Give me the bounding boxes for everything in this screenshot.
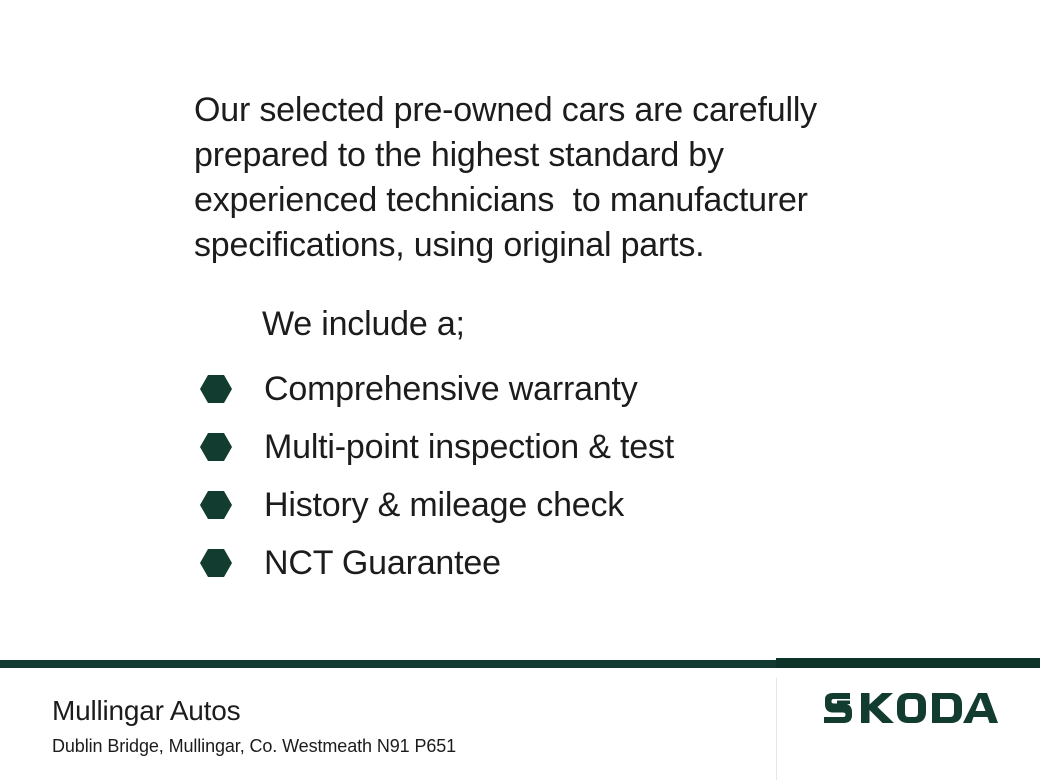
list-item: Comprehensive warranty xyxy=(196,360,956,418)
list-item: NCT Guarantee xyxy=(196,534,956,592)
hexagon-bullet-icon xyxy=(200,375,232,403)
headline-paragraph: Our selected pre-owned cars are carefull… xyxy=(194,88,894,268)
list-item-label: Multi-point inspection & test xyxy=(264,427,674,467)
hexagon-bullet-icon xyxy=(200,549,232,577)
dealer-name: Mullingar Autos xyxy=(52,694,240,728)
headline-line-1: Our selected pre-owned cars are carefull… xyxy=(194,88,894,133)
slide-canvas: Our selected pre-owned cars are carefull… xyxy=(0,0,1040,780)
inclusions-list: Comprehensive warranty Multi-point inspe… xyxy=(196,360,956,592)
list-item-label: Comprehensive warranty xyxy=(264,369,638,409)
headline-line-4: specifications, using original parts. xyxy=(194,223,894,268)
headline-line-2: prepared to the highest standard by xyxy=(194,133,894,178)
dealer-address: Dublin Bridge, Mullingar, Co. Westmeath … xyxy=(52,734,456,758)
footer-divider-bar-accent xyxy=(776,658,1040,668)
headline-line-3: experienced technicians to manufacturer xyxy=(194,178,894,223)
hexagon-bullet-icon xyxy=(200,491,232,519)
hexagon-bullet-icon xyxy=(200,433,232,461)
list-item: Multi-point inspection & test xyxy=(196,418,956,476)
include-lead-text: We include a; xyxy=(262,303,465,345)
list-item-label: NCT Guarantee xyxy=(264,543,501,583)
list-item: History & mileage check xyxy=(196,476,956,534)
footer-vertical-divider xyxy=(776,678,777,780)
skoda-wordmark-icon xyxy=(820,690,1000,726)
list-item-label: History & mileage check xyxy=(264,485,624,525)
